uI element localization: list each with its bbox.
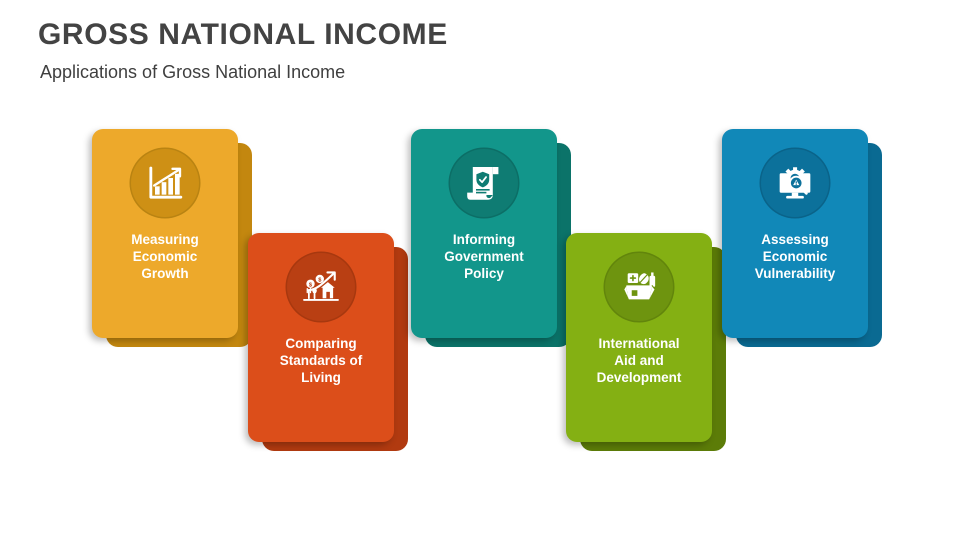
card-front-panel[interactable]: International Aid and Development — [566, 233, 712, 442]
card-front-panel[interactable]: Informing Government Policy — [411, 129, 557, 338]
icon-badge — [131, 149, 199, 217]
card-informing-government-policy[interactable]: Informing Government Policy — [411, 129, 563, 339]
icon-badge — [761, 149, 829, 217]
card-label: Informing Government Policy — [418, 231, 550, 282]
icon-badge — [605, 253, 673, 321]
page-subtitle: Applications of Gross National Income — [40, 62, 345, 83]
cost-of-living-icon: $ $ — [300, 266, 342, 308]
card-front-panel[interactable]: Assessing Economic Vulnerability — [722, 129, 868, 338]
card-label: Comparing Standards of Living — [255, 335, 387, 386]
card-label: Measuring Economic Growth — [99, 231, 231, 282]
card-assessing-economic-vulnerability[interactable]: Assessing Economic Vulnerability — [722, 129, 874, 339]
icon-badge: $ $ — [287, 253, 355, 321]
bar-chart-growth-icon — [145, 163, 185, 203]
policy-document-shield-icon — [464, 163, 504, 203]
card-label: International Aid and Development — [573, 335, 705, 386]
page-title: GROSS NATIONAL INCOME — [38, 18, 448, 52]
icon-badge — [450, 149, 518, 217]
card-front-panel[interactable]: $ $ Comparin — [248, 233, 394, 442]
card-comparing-standards-of-living[interactable]: $ $ Comparin — [248, 233, 400, 443]
card-measuring-economic-growth[interactable]: Measuring Economic Growth — [92, 129, 244, 339]
card-label: Assessing Economic Vulnerability — [729, 231, 861, 282]
slide-canvas: GROSS NATIONAL INCOME Applications of Gr… — [0, 0, 960, 540]
card-front-panel[interactable]: Measuring Economic Growth — [92, 129, 238, 338]
monitor-gear-risk-icon — [774, 162, 816, 204]
aid-supply-box-icon — [618, 266, 660, 308]
card-international-aid-and-development[interactable]: International Aid and Development — [566, 233, 718, 443]
